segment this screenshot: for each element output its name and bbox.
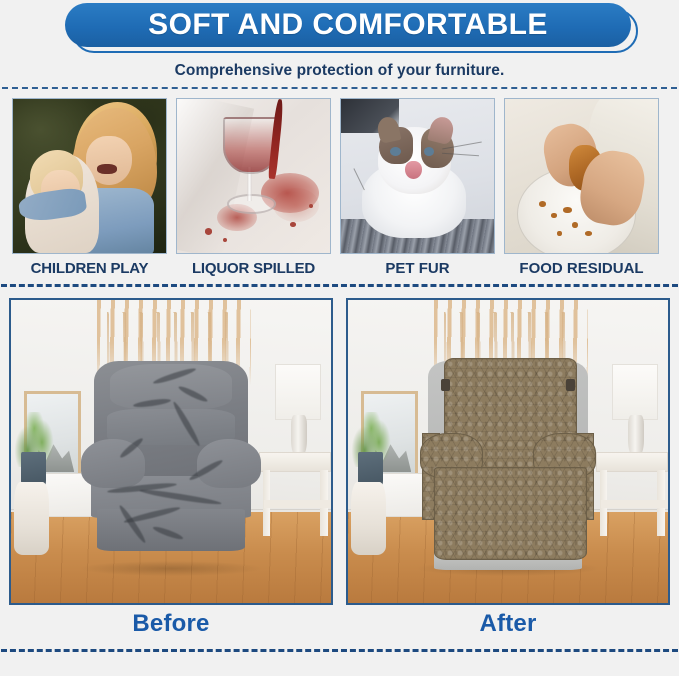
comparison-item-before: Before xyxy=(9,298,333,638)
divider-bottom xyxy=(1,649,678,652)
recliner-with-tan-quilted-cover-photo xyxy=(346,298,670,605)
banner-fill-shape: SOFT AND COMFORTABLE xyxy=(65,3,631,47)
hands-eating-food-photo xyxy=(504,98,659,254)
scenario-gallery: CHILDREN PLAY LIQUOR SPILLED xyxy=(0,89,679,277)
header-banner: SOFT AND COMFORTABLE xyxy=(0,0,679,56)
comparison-item-after: After xyxy=(346,298,670,638)
page-subtitle: Comprehensive protection of your furnitu… xyxy=(0,62,679,80)
page-title: SOFT AND COMFORTABLE xyxy=(148,8,548,42)
scenario-item-pet-fur: PET FUR xyxy=(340,98,495,277)
grey-recliner-stained-photo xyxy=(9,298,333,605)
scenario-item-liquor-spilled: LIQUOR SPILLED xyxy=(176,98,331,277)
scenario-label-food-residual: FOOD RESIDUAL xyxy=(504,260,659,277)
before-after-comparison: Before xyxy=(0,287,679,638)
ragdoll-cat-photo xyxy=(340,98,495,254)
children-hugging-photo xyxy=(12,98,167,254)
scenario-label-liquor-spilled: LIQUOR SPILLED xyxy=(176,260,331,277)
red-wine-spill-photo xyxy=(176,98,331,254)
scenario-label-pet-fur: PET FUR xyxy=(340,260,495,277)
scenario-item-food-residual: FOOD RESIDUAL xyxy=(504,98,659,277)
scenario-label-children-play: CHILDREN PLAY xyxy=(12,260,167,277)
scenario-item-children-play: CHILDREN PLAY xyxy=(12,98,167,277)
comparison-label-before: Before xyxy=(9,610,333,638)
comparison-label-after: After xyxy=(346,610,670,638)
